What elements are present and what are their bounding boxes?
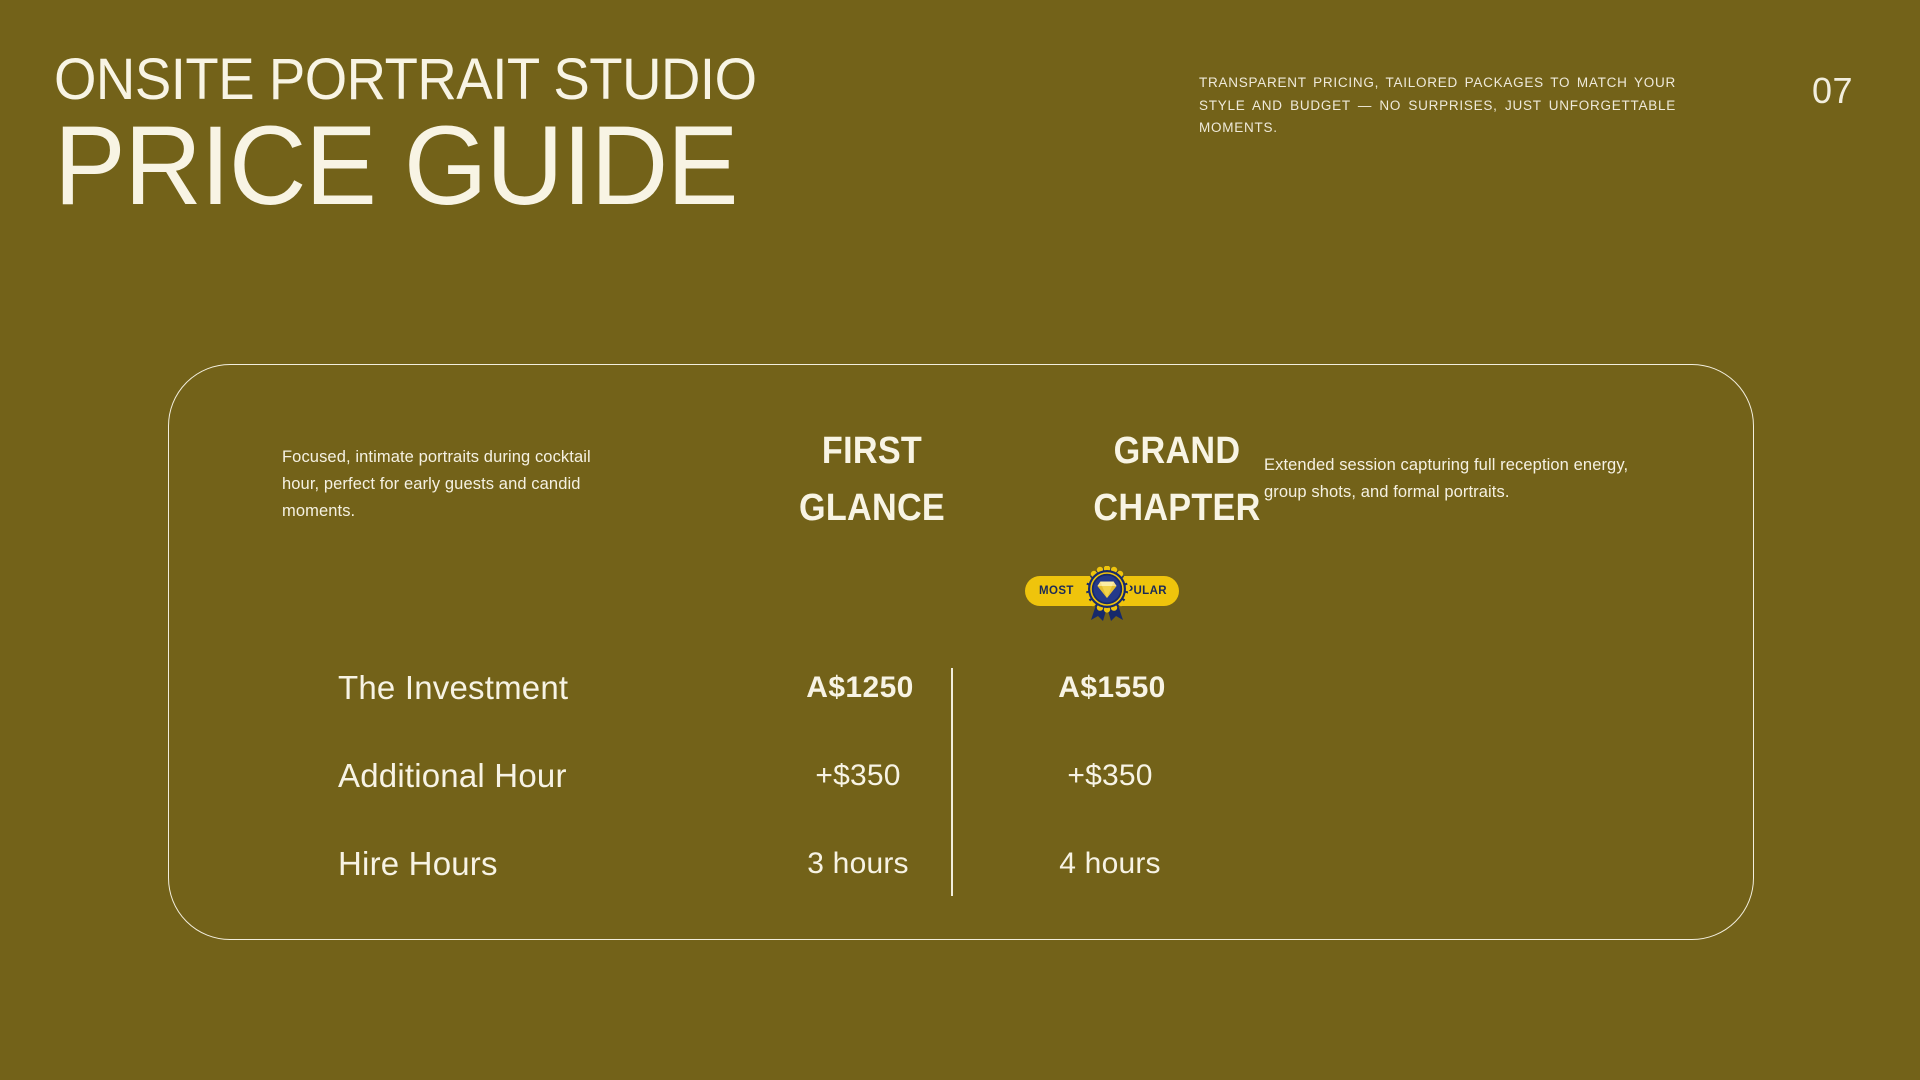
plan-heading-grand-chapter: GRAND CHAPTER bbox=[1069, 423, 1285, 537]
row-value-first-glance: +$350 bbox=[738, 753, 978, 799]
page-number: 07 bbox=[1812, 70, 1853, 112]
page-title: PRICE GUIDE bbox=[54, 108, 880, 224]
badge-label-most: MOST bbox=[1039, 576, 1074, 606]
row-value-first-glance: 3 hours bbox=[738, 841, 978, 887]
title-block: ONSITE PORTRAIT STUDIO PRICE GUIDE bbox=[54, 48, 914, 224]
plan-heading-line-2: GLANCE bbox=[764, 480, 980, 537]
row-label: The Investment bbox=[338, 665, 698, 711]
plan-heading-line-1: GRAND bbox=[1069, 423, 1285, 480]
table-row: The Investment A$1250 A$1550 bbox=[168, 665, 1754, 711]
row-value-grand-chapter: +$350 bbox=[990, 753, 1230, 799]
table-row: Hire Hours 3 hours 4 hours bbox=[168, 841, 1754, 887]
intro-paragraph: TRANSPARENT PRICING, TAILORED PACKAGES T… bbox=[1199, 72, 1676, 140]
plan-heading-line-1: FIRST bbox=[764, 423, 980, 480]
row-label: Additional Hour bbox=[338, 753, 698, 799]
row-value-grand-chapter: A$1550 bbox=[992, 665, 1232, 711]
award-medal-icon bbox=[1084, 566, 1130, 622]
most-popular-badge: MOST POPULAR bbox=[1025, 576, 1179, 606]
row-value-grand-chapter: 4 hours bbox=[990, 841, 1230, 887]
row-label: Hire Hours bbox=[338, 841, 698, 887]
row-value-first-glance: A$1250 bbox=[740, 665, 980, 711]
plan-description-grand-chapter: Extended session capturing full receptio… bbox=[1264, 452, 1634, 506]
table-row: Additional Hour +$350 +$350 bbox=[168, 753, 1754, 799]
plan-description-first-glance: Focused, intimate portraits during cockt… bbox=[282, 444, 627, 525]
plan-heading-line-2: CHAPTER bbox=[1069, 480, 1285, 537]
intro-text: TRANSPARENT PRICING, TAILORED PACKAGES T… bbox=[1199, 75, 1676, 135]
slide-header: ONSITE PORTRAIT STUDIO PRICE GUIDE TRANS… bbox=[0, 0, 1920, 280]
plan-heading-first-glance: FIRST GLANCE bbox=[764, 423, 980, 537]
